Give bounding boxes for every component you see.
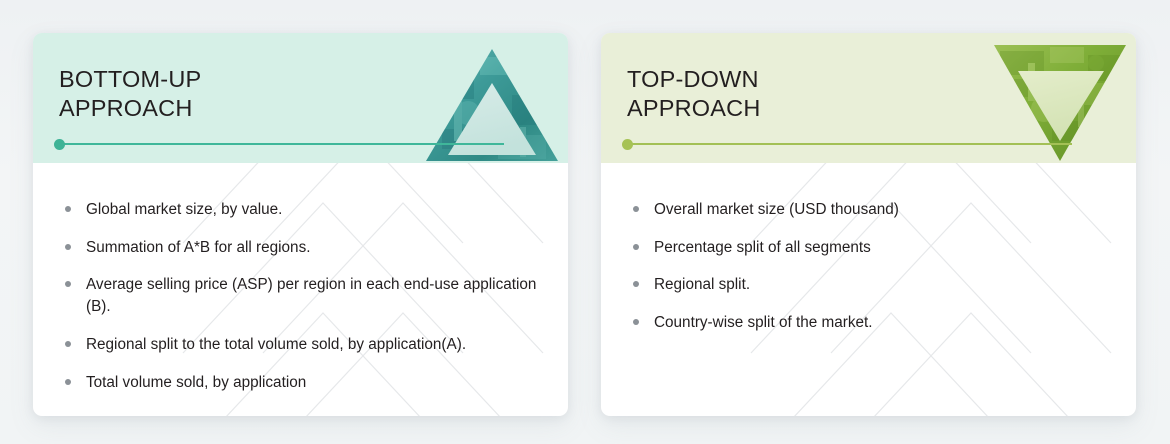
bullet-dot-icon <box>65 281 71 287</box>
list-item: Average selling price (ASP) per region i… <box>55 274 538 317</box>
rule-dot-icon <box>622 139 633 150</box>
diagram-canvas: BOTTOM-UP APPROACH <box>0 0 1170 444</box>
list-item-text: Global market size, by value. <box>86 201 282 218</box>
triangle-down-icon <box>992 43 1128 163</box>
list-item-text: Average selling price (ASP) per region i… <box>86 276 536 315</box>
list-item: Global market size, by value. <box>55 199 538 221</box>
card-title-bottom-up: BOTTOM-UP APPROACH <box>59 65 201 124</box>
triangle-up-icon <box>424 43 560 163</box>
bullet-dot-icon <box>633 319 639 325</box>
list-item: Overall market size (USD thousand) <box>623 199 1106 221</box>
list-item: Country-wise split of the market. <box>623 312 1106 334</box>
bullet-dot-icon <box>633 244 639 250</box>
card-body-bottom-up: Global market size, by value. Summation … <box>33 163 568 416</box>
bullet-dot-icon <box>633 281 639 287</box>
list-item-text: Country-wise split of the market. <box>654 314 872 331</box>
header-rule-bottom-up <box>59 143 504 145</box>
bullet-list-bottom-up: Global market size, by value. Summation … <box>55 199 538 393</box>
bullet-dot-icon <box>65 244 71 250</box>
list-item-text: Regional split to the total volume sold,… <box>86 336 466 353</box>
bullet-dot-icon <box>65 379 71 385</box>
rule-dot-icon <box>54 139 65 150</box>
header-rule-top-down <box>627 143 1072 145</box>
card-body-top-down: Overall market size (USD thousand) Perce… <box>601 163 1136 416</box>
bullet-dot-icon <box>65 341 71 347</box>
list-item-text: Regional split. <box>654 276 750 293</box>
list-item: Regional split. <box>623 274 1106 296</box>
bullet-dot-icon <box>65 206 71 212</box>
card-title-top-down: TOP-DOWN APPROACH <box>627 65 761 124</box>
bullet-list-top-down: Overall market size (USD thousand) Perce… <box>623 199 1106 334</box>
card-top-down: TOP-DOWN APPROACH <box>601 33 1136 416</box>
list-item-text: Total volume sold, by application <box>86 374 306 391</box>
card-header-top-down: TOP-DOWN APPROACH <box>601 33 1136 163</box>
list-item-text: Summation of A*B for all regions. <box>86 239 310 256</box>
list-item: Total volume sold, by application <box>55 372 538 394</box>
card-header-bottom-up: BOTTOM-UP APPROACH <box>33 33 568 163</box>
list-item-text: Percentage split of all segments <box>654 239 871 256</box>
list-item: Percentage split of all segments <box>623 237 1106 259</box>
card-bottom-up: BOTTOM-UP APPROACH <box>33 33 568 416</box>
list-item: Summation of A*B for all regions. <box>55 237 538 259</box>
bullet-dot-icon <box>633 206 639 212</box>
list-item: Regional split to the total volume sold,… <box>55 334 538 356</box>
list-item-text: Overall market size (USD thousand) <box>654 201 899 218</box>
